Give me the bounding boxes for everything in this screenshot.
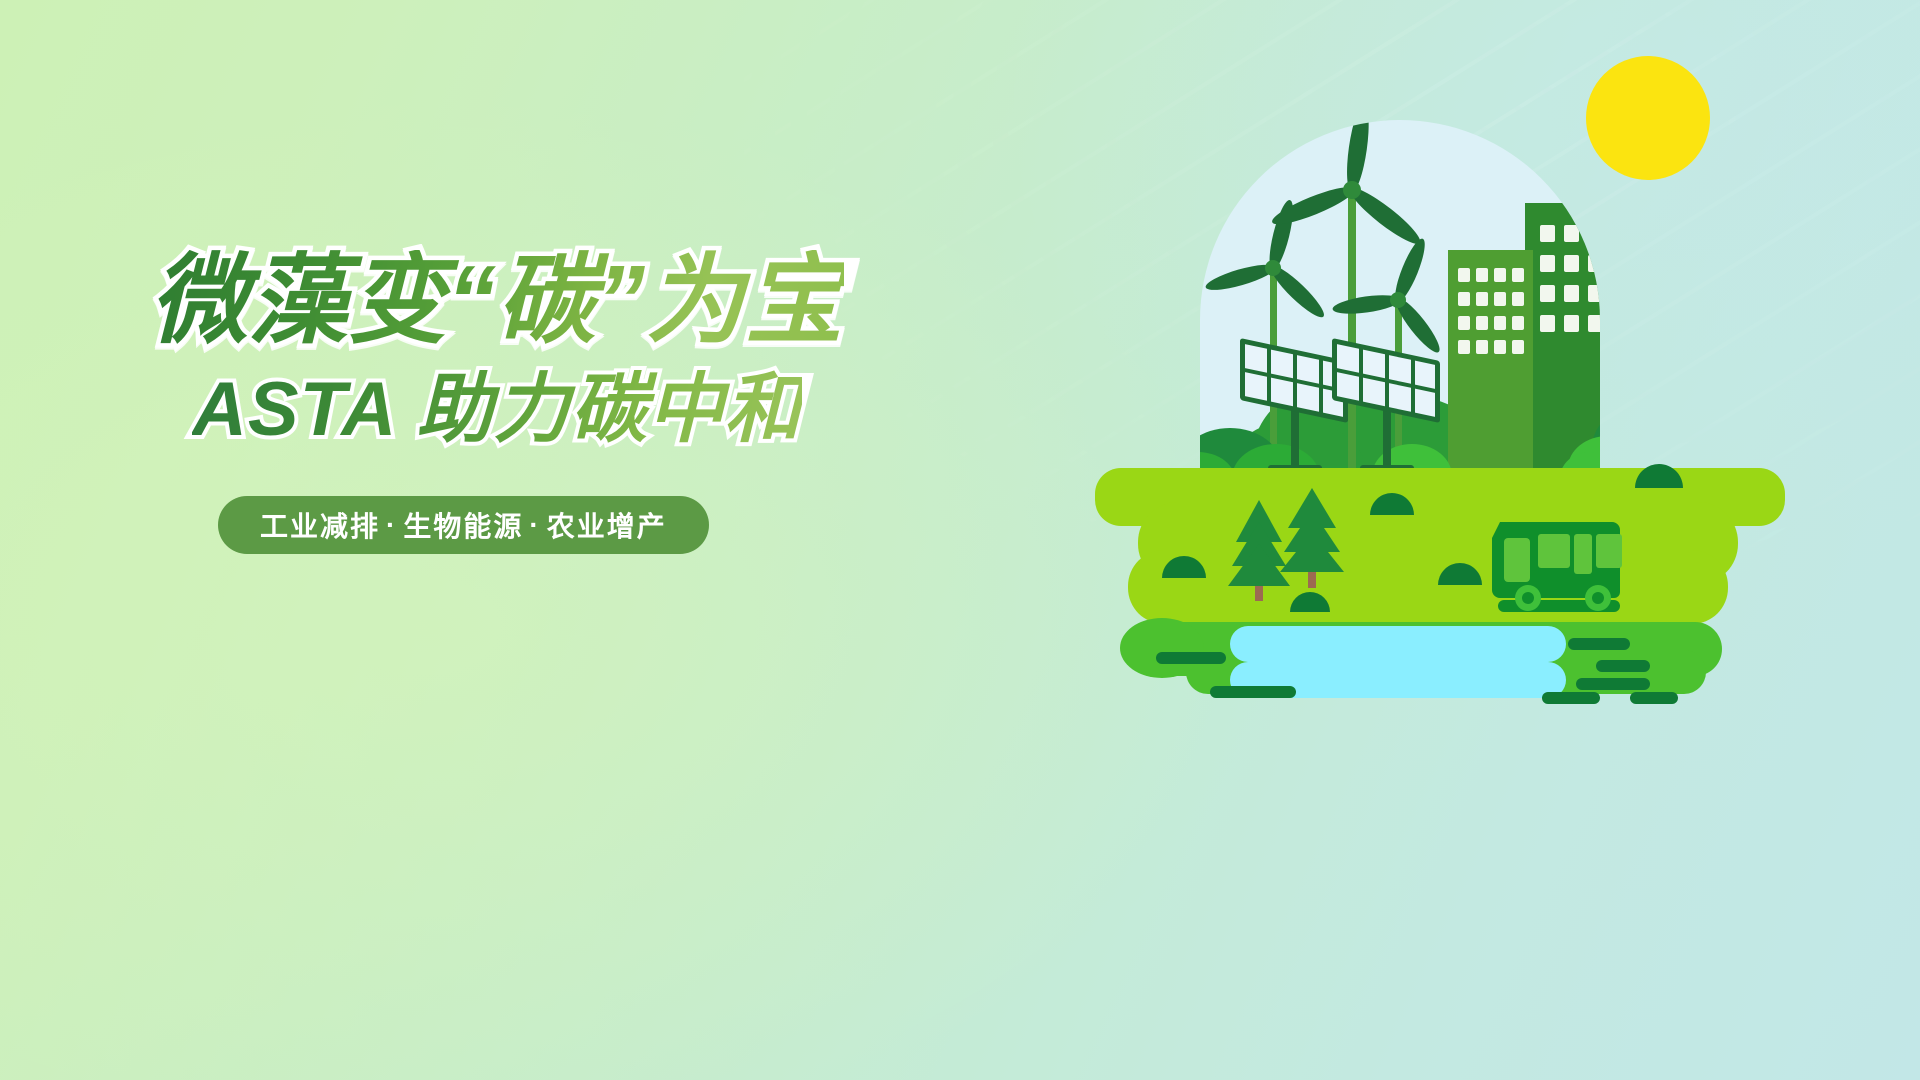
headline-block: 微藻变“碳”为宝 微藻变“碳”为宝 <box>150 250 870 358</box>
grass-layer-top <box>1095 468 1785 624</box>
badge-item-bioenergy: 生物能源 <box>403 505 523 545</box>
building-left <box>1448 250 1533 493</box>
hero-copy: 微藻变“碳”为宝 微藻变“碳”为宝 ASTA 助力碳中和 ASTA 助力碳中和 … <box>150 250 870 554</box>
badge-item-agriculture: 农业增产 <box>547 505 667 545</box>
page-subtitle: ASTA 助力碳中和 <box>192 370 802 451</box>
eco-city-illustration <box>1090 70 1790 690</box>
badge-item-industrial: 工业减排 <box>260 505 380 545</box>
banner-canvas: 微藻变“碳”为宝 微藻变“碳”为宝 ASTA 助力碳中和 ASTA 助力碳中和 … <box>0 0 1920 1080</box>
feature-badge: 工业减排 · 生物能源 · 农业增产 <box>218 496 709 554</box>
badge-separator-1: · <box>380 509 403 541</box>
page-title: 微藻变“碳”为宝 <box>150 250 844 352</box>
badge-separator-2: · <box>523 509 546 541</box>
sun-icon <box>1586 56 1710 180</box>
subline-block: ASTA 助力碳中和 ASTA 助力碳中和 <box>192 370 870 462</box>
